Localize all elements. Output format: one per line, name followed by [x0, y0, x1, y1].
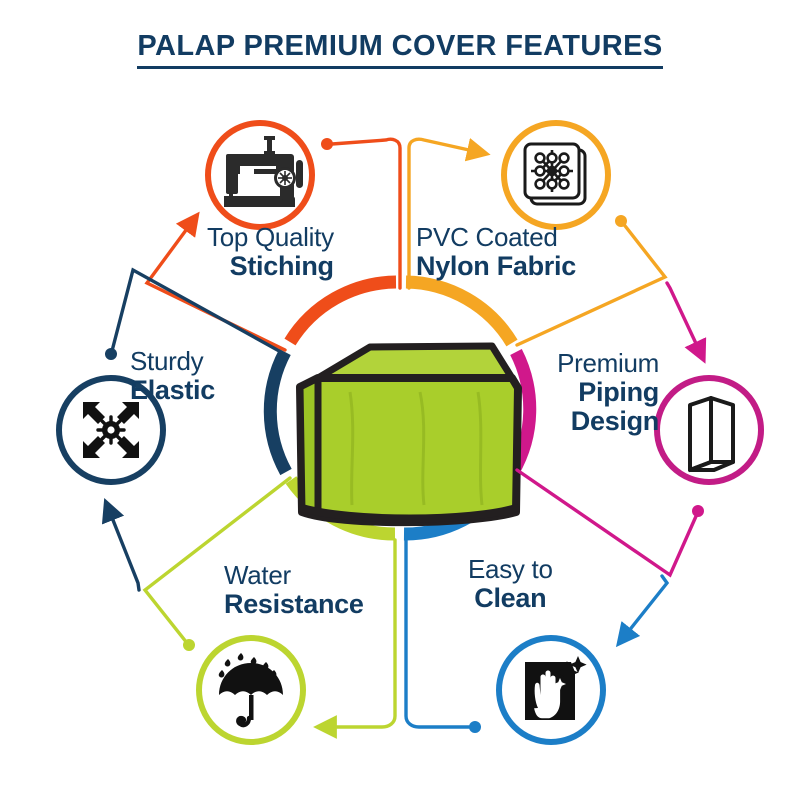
feature-icon-piping[interactable] [657, 378, 761, 482]
connector-clean-line-arrow [624, 576, 667, 637]
feature-label-water-line1: Water [224, 562, 364, 590]
connector-elastic-dot [105, 348, 117, 360]
feature-label-nylon-line2: Nylon Fabric [416, 252, 576, 281]
feature-label-clean-line1: Easy to [468, 556, 553, 584]
infographic-canvas: PALAP PREMIUM COVER FEATURES [0, 0, 800, 800]
feature-label-stiching-line2: Stiching [207, 252, 334, 281]
feature-icon-stiching[interactable] [208, 123, 312, 227]
feature-label-piping-line2: Piping [555, 378, 659, 407]
connector-nylon-dot [615, 215, 627, 227]
feature-icon-clean[interactable] [499, 638, 603, 742]
feature-label-water: Water Resistance [224, 562, 364, 619]
feature-label-clean: Easy to Clean [468, 556, 553, 613]
connector-piping-dot [692, 505, 704, 517]
connector-elastic-line-ring [112, 270, 281, 352]
feature-label-elastic-line2: Elastic [130, 376, 215, 405]
infographic-artwork [0, 0, 800, 800]
connector-stiching-dot [321, 138, 333, 150]
connector-piping-line-arrow [667, 283, 700, 352]
ring-segment-stiching [290, 282, 396, 342]
connector-clean-dot [469, 721, 481, 733]
woven-fabric-mesh-icon [525, 144, 585, 204]
feature-icon-nylon[interactable] [504, 123, 608, 227]
feature-label-water-line2: Resistance [224, 590, 364, 619]
feature-label-elastic: Sturdy Elastic [130, 348, 215, 405]
product-cover-illustration [300, 346, 518, 522]
feature-label-piping: Premium Piping Design [555, 350, 659, 436]
feature-label-piping-line1: Premium [555, 350, 659, 378]
feature-label-nylon-line1: PVC Coated [416, 224, 576, 252]
feature-label-stiching: Top Quality Stiching [207, 224, 334, 281]
connector-stiching-line-ring [332, 139, 400, 288]
feature-label-piping-line3: Design [555, 407, 659, 436]
ring-segment-elastic [270, 352, 286, 472]
feature-icon-water[interactable] [199, 638, 303, 742]
feature-label-nylon: PVC Coated Nylon Fabric [416, 224, 576, 281]
feature-label-stiching-line1: Top Quality [207, 224, 334, 252]
feature-label-elastic-line1: Sturdy [130, 348, 215, 376]
feature-label-clean-line2: Clean [468, 584, 553, 613]
ring-segment-nylon [406, 282, 512, 343]
connector-clean-line-ring [406, 540, 470, 727]
folded-piping-icon [690, 398, 733, 470]
connector-water-dot [183, 639, 195, 651]
connector-elastic-line-arrow [109, 510, 139, 590]
